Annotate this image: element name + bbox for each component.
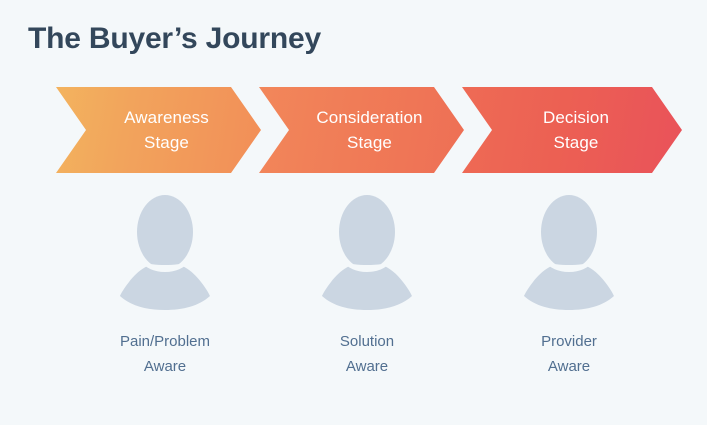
- stage-label-decision: Decision Stage: [543, 105, 609, 155]
- person-avatar-icon: [110, 192, 220, 310]
- stage-chevron-consideration[interactable]: Consideration Stage: [259, 87, 464, 173]
- page-title: The Buyer’s Journey: [28, 22, 321, 56]
- stage-label-awareness: Awareness Stage: [124, 105, 209, 155]
- person-avatar-icon: [312, 192, 422, 310]
- persona-row: Pain/Problem Aware Solution Aware Provid…: [0, 192, 707, 392]
- stage-label-consideration: Consideration Stage: [316, 105, 422, 155]
- stage-chevron-decision[interactable]: Decision Stage: [462, 87, 682, 173]
- person-avatar-icon: [514, 192, 624, 310]
- stage-chevron-band: Awareness Stage Consideration Stage Deci…: [0, 87, 707, 173]
- persona-caption-awareness: Pain/Problem Aware: [65, 329, 265, 379]
- persona-decision: Provider Aware: [469, 192, 669, 379]
- persona-caption-decision: Provider Aware: [469, 329, 669, 379]
- persona-awareness: Pain/Problem Aware: [65, 192, 265, 379]
- stage-chevron-awareness[interactable]: Awareness Stage: [56, 87, 261, 173]
- persona-consideration: Solution Aware: [267, 192, 467, 379]
- buyers-journey-infographic: The Buyer’s Journey Awareness Stage Cons…: [0, 0, 707, 425]
- persona-caption-consideration: Solution Aware: [267, 329, 467, 379]
